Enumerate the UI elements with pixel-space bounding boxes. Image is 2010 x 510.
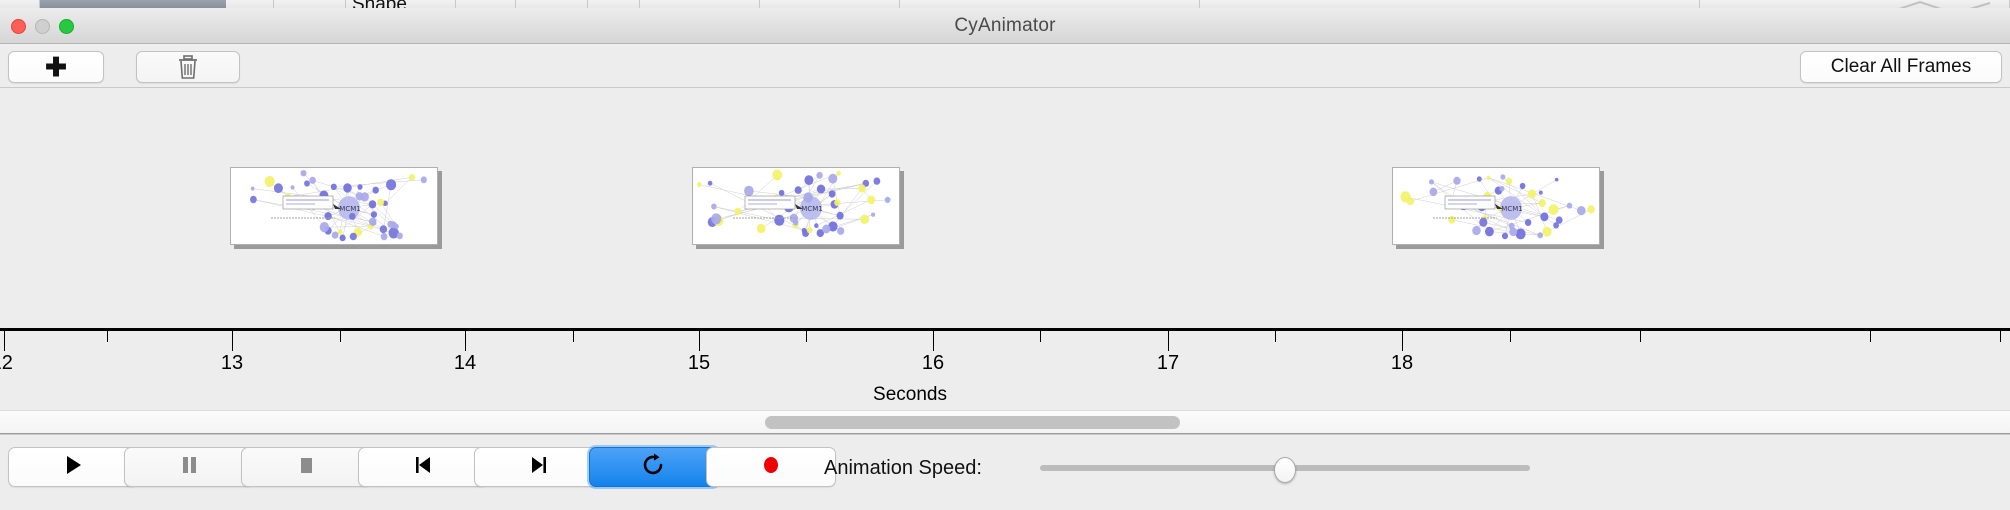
axis-tick-minor xyxy=(806,331,807,342)
maximize-button[interactable] xyxy=(59,19,74,34)
axis-tick-major xyxy=(699,331,700,351)
timeline-axis[interactable]: 12131415161718 Seconds xyxy=(0,328,2010,410)
toolbar: ✚ Clear All Frames xyxy=(0,44,2010,88)
axis-tick-major xyxy=(465,331,466,351)
skip-back-button[interactable] xyxy=(358,447,488,487)
record-icon xyxy=(758,452,784,483)
timeline-frame[interactable]: MCM1 xyxy=(692,167,900,245)
skip-forward-icon xyxy=(526,452,552,483)
axis-tick-label: 17 xyxy=(1157,352,1179,375)
stop-button xyxy=(241,447,371,487)
axis-tick-label: 16 xyxy=(922,352,944,375)
playback-controls: Animation Speed: xyxy=(0,434,2010,510)
axis-tick-label: 14 xyxy=(454,352,476,375)
plus-icon: ✚ xyxy=(45,54,67,80)
animation-speed-label: Animation Speed: xyxy=(824,457,982,480)
frames-area[interactable]: MCM1MCM1MCM1 xyxy=(0,88,2010,328)
clear-all-frames-button[interactable]: Clear All Frames xyxy=(1800,51,2002,83)
svg-text:MCM1: MCM1 xyxy=(1501,205,1522,213)
title-bar: CyAnimator xyxy=(0,8,2010,44)
animation-speed-thumb[interactable] xyxy=(1274,457,1296,483)
window-title: CyAnimator xyxy=(954,15,1055,37)
svg-text:MCM1: MCM1 xyxy=(339,205,360,213)
axis-tick-minor xyxy=(1040,331,1041,342)
svg-text:MCM1: MCM1 xyxy=(801,205,822,213)
timeline-scrollbar[interactable] xyxy=(0,410,2010,434)
add-frame-button[interactable]: ✚ xyxy=(8,51,104,83)
axis-tick-major xyxy=(232,331,233,351)
axis-tick-label: 12 xyxy=(0,352,13,375)
pause-icon xyxy=(176,452,202,483)
cyanimator-window: Shape CyAnimator ✚ Clea xyxy=(0,0,2010,510)
timeline-frame[interactable]: MCM1 xyxy=(1392,167,1600,245)
axis-tick-minor xyxy=(1510,331,1511,342)
close-button[interactable] xyxy=(11,19,26,34)
axis-tick-minor xyxy=(1275,331,1276,342)
axis-tick-minor xyxy=(1870,331,1871,342)
axis-tick-major xyxy=(4,331,5,351)
axis-tick-minor xyxy=(573,331,574,342)
trash-icon xyxy=(177,55,199,80)
delete-frame-button[interactable] xyxy=(136,51,240,83)
axis-tick-major xyxy=(1168,331,1169,351)
axis-tick-label: 13 xyxy=(221,352,243,375)
minimize-button[interactable] xyxy=(35,19,50,34)
window-controls[interactable] xyxy=(11,19,74,34)
axis-tick-label: 15 xyxy=(688,352,710,375)
scrollbar-thumb[interactable] xyxy=(765,416,1180,429)
play-button[interactable] xyxy=(8,447,138,487)
axis-tick-minor xyxy=(340,331,341,342)
skip-back-icon xyxy=(410,452,436,483)
axis-tick-major xyxy=(933,331,934,351)
stop-icon xyxy=(293,452,319,483)
axis-tick-minor xyxy=(107,331,108,342)
loop-icon xyxy=(641,452,667,483)
timeline-frame[interactable]: MCM1 xyxy=(230,167,438,245)
play-icon xyxy=(60,452,86,483)
axis-tick-major xyxy=(1402,331,1403,351)
skip-forward-button[interactable] xyxy=(474,447,604,487)
axis-tick-label: 18 xyxy=(1391,352,1413,375)
axis-tick-minor xyxy=(2000,331,2001,342)
pause-button xyxy=(124,447,254,487)
axis-title: Seconds xyxy=(873,384,947,406)
loop-button[interactable] xyxy=(589,447,719,487)
axis-tick-minor xyxy=(1640,331,1641,342)
axis-line xyxy=(0,328,2010,331)
timeline-panel: MCM1MCM1MCM1 12131415161718 Seconds xyxy=(0,88,2010,410)
record-button[interactable] xyxy=(706,447,836,487)
